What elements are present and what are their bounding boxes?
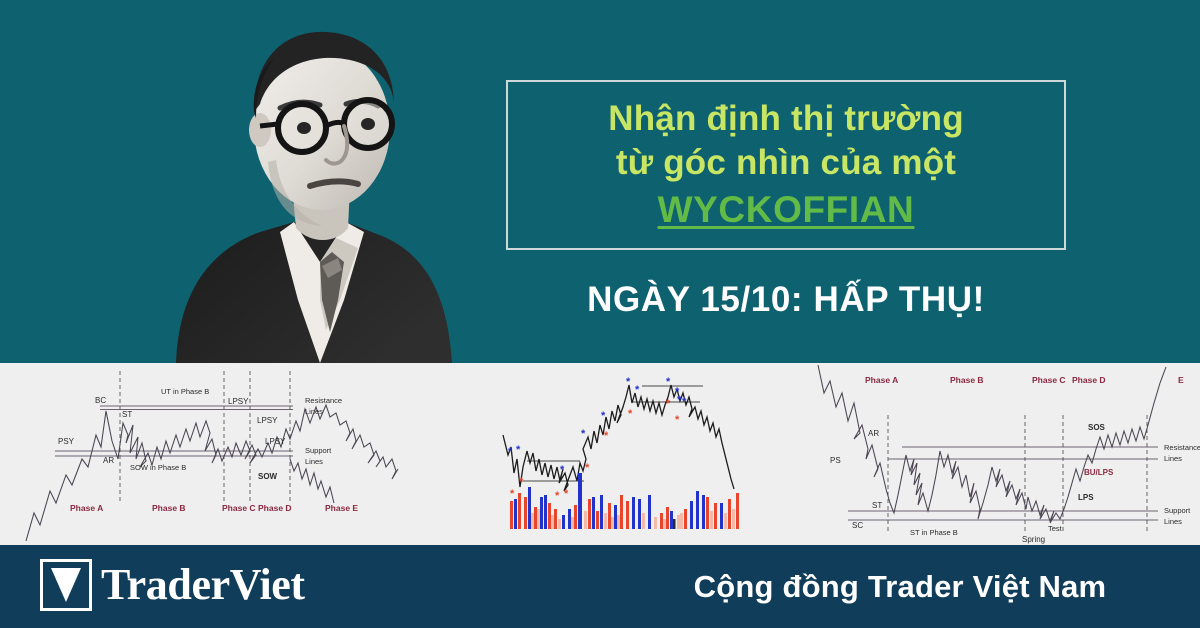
label-sos: SOS [1088, 423, 1106, 432]
svg-text:*: * [508, 446, 513, 458]
label-support-lines-1: Support [305, 446, 332, 455]
svg-text:*: * [635, 384, 640, 396]
title-line-wyckoffian: WYCKOFFIAN [658, 186, 915, 233]
label-ut-in-phase-b: UT in Phase B [161, 387, 209, 396]
label-sc: SC [852, 521, 863, 530]
svg-text:*: * [675, 414, 680, 426]
phase-label-e: E [1178, 375, 1184, 385]
traderviet-logo-text: TraderViet [101, 563, 305, 607]
label-sow-in-phase-b: SOW in Phase B [130, 463, 186, 472]
phase-label-d: Phase D [1072, 375, 1106, 385]
phase-label-a: Phase A [865, 375, 898, 385]
label-lps: LPS [1078, 493, 1094, 502]
phase-label-b: Phase B [152, 503, 186, 513]
annotated-price-volume-chart: ** * * * * * * * * * * * * [470, 363, 760, 545]
traderviet-logo[interactable]: TraderViet [40, 559, 305, 611]
svg-text:*: * [666, 398, 671, 410]
label-resistance-lines-1: Resistance [1164, 443, 1200, 452]
label-st: ST [872, 501, 882, 510]
label-resistance-lines-2: Lines [305, 407, 323, 416]
headline: NGÀY 15/10: HẤP THỤ! [506, 280, 1066, 320]
label-resistance-lines-2: Lines [1164, 454, 1182, 463]
label-st: ST [122, 410, 132, 419]
title-line-1: Nhận định thị trường [608, 97, 964, 142]
svg-text:*: * [516, 444, 521, 456]
richard-wyckoff-portrait [168, 0, 460, 363]
svg-text:*: * [510, 488, 515, 500]
label-ps: PS [830, 456, 841, 465]
hero-section: Nhận định thị trường từ góc nhìn của một… [0, 0, 1200, 363]
title-box: Nhận định thị trường từ góc nhìn của một… [506, 80, 1066, 250]
label-psy: PSY [58, 437, 75, 446]
svg-text:*: * [560, 464, 565, 476]
phase-label-d: Phase D [258, 503, 292, 513]
svg-text:*: * [601, 410, 606, 422]
label-st-in-phase-b: ST in Phase B [910, 528, 958, 537]
svg-text:*: * [555, 490, 560, 502]
label-support-lines-2: Lines [1164, 517, 1182, 526]
label-lpsy-3: LPSY [265, 437, 286, 446]
footer-tagline: Cộng đồng Trader Việt Nam [600, 545, 1200, 628]
svg-text:*: * [682, 396, 687, 408]
phase-label-c: Phase C [222, 503, 256, 513]
social-banner: Nhận định thị trường từ góc nhìn của một… [0, 0, 1200, 628]
svg-text:*: * [604, 430, 609, 442]
label-test: Test [1048, 524, 1063, 533]
phase-label-a: Phase A [70, 503, 103, 513]
phase-label-b: Phase B [950, 375, 984, 385]
label-lpsy-1: LPSY [228, 397, 249, 406]
chart-band: PSY BC AR ST UT in Phase B SOW in Phase … [0, 363, 1200, 545]
footer-bar: TraderViet Cộng đồng Trader Việt Nam [0, 545, 1200, 628]
phase-label-e: Phase E [325, 503, 358, 513]
phase-label-c: Phase C [1032, 375, 1066, 385]
label-spring: Spring [1022, 535, 1045, 544]
label-lpsy-2: LPSY [257, 416, 278, 425]
label-ar: AR [868, 429, 879, 438]
svg-text:*: * [581, 428, 586, 440]
svg-text:*: * [666, 376, 671, 388]
wyckoff-distribution-chart: PSY BC AR ST UT in Phase B SOW in Phase … [0, 363, 400, 545]
label-support-lines-1: Support [1164, 506, 1191, 515]
label-resistance-lines-1: Resistance [305, 396, 342, 405]
wyckoff-accumulation-chart: PS SC AR ST ST in Phase B Spring Test SO… [810, 363, 1200, 545]
label-bc: BC [95, 396, 106, 405]
svg-text:*: * [585, 462, 590, 474]
svg-text:*: * [628, 408, 633, 420]
svg-text:*: * [564, 488, 569, 500]
svg-text:*: * [626, 376, 631, 388]
title-line-2: từ góc nhìn của một [616, 141, 956, 186]
label-bu-lps: BU/LPS [1084, 468, 1114, 477]
v-in-box-icon [40, 559, 92, 611]
label-ar: AR [103, 456, 114, 465]
label-sow: SOW [258, 472, 278, 481]
svg-text:*: * [519, 476, 524, 488]
label-support-lines-2: Lines [305, 457, 323, 466]
